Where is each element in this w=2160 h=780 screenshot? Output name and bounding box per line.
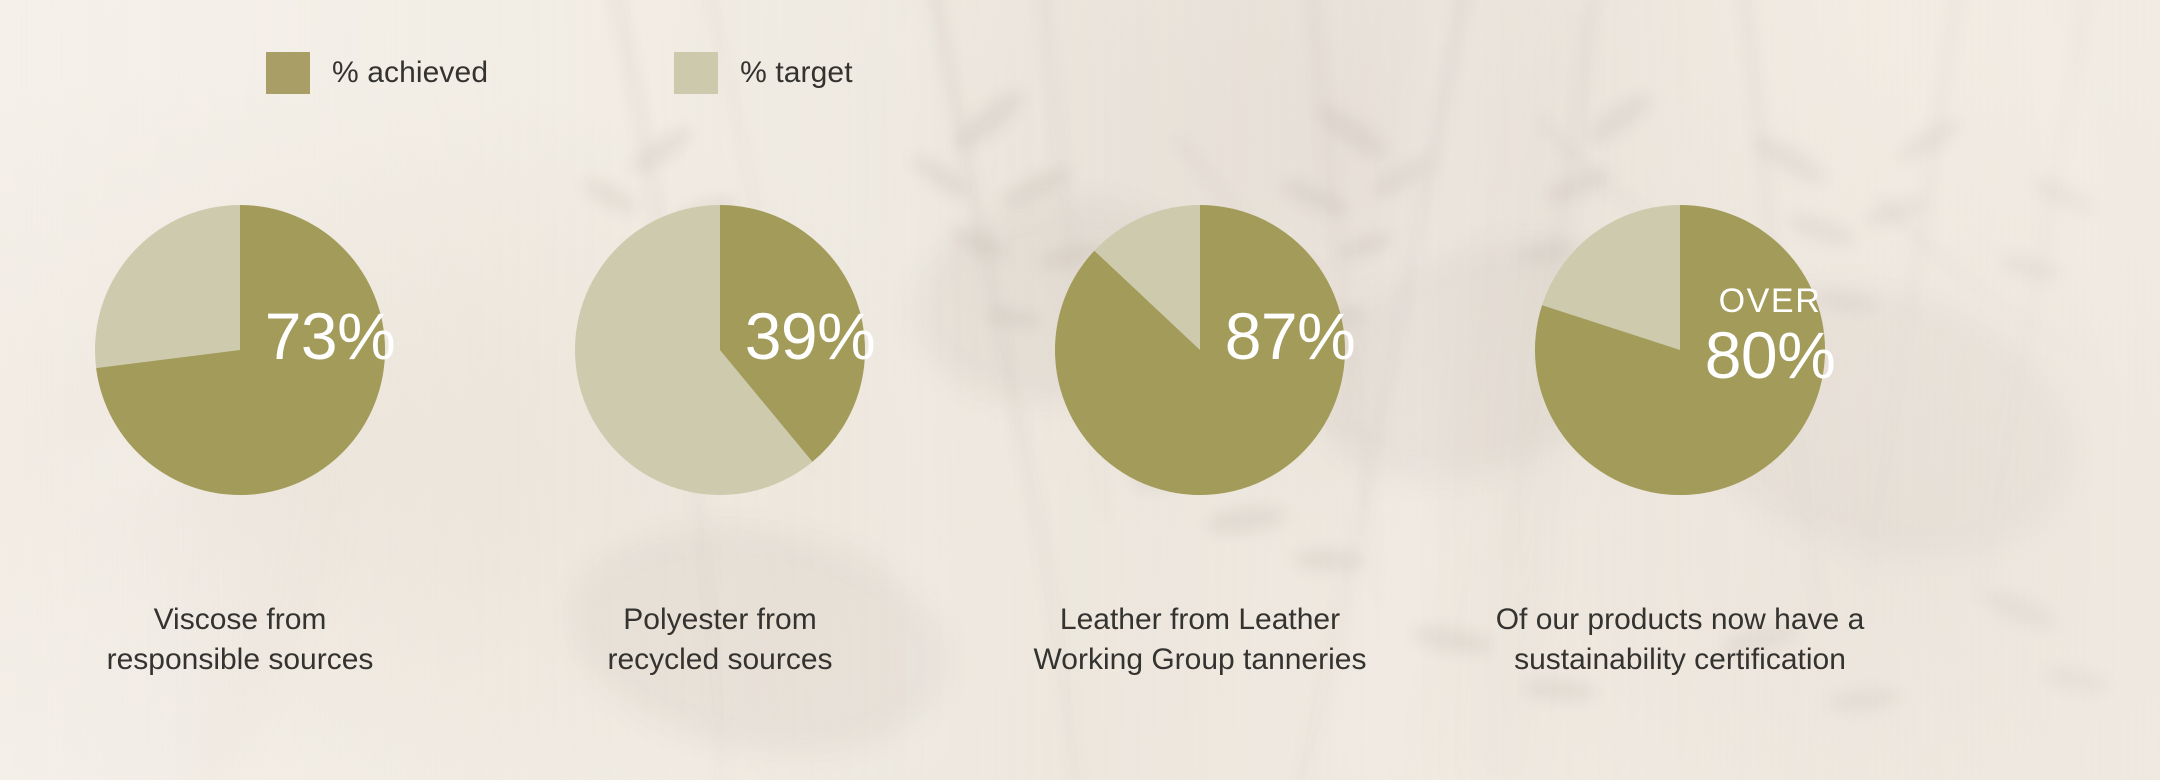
legend-swatch-achieved: [266, 52, 310, 94]
pie-caption-polyester: Polyester from recycled sources: [607, 600, 832, 679]
pie-caption-line-2: responsible sources: [107, 640, 374, 680]
legend-item-target[interactable]: % target: [674, 52, 853, 94]
pie-svg-leather: [1000, 150, 1400, 550]
pie-cell-certification[interactable]: OVER 80% Of our products now have a sust…: [1440, 150, 1920, 679]
infographic-root: % achieved % target 73% Viscose f: [0, 0, 2160, 780]
pie-caption-certification: Of our products now have a sustainabilit…: [1496, 600, 1865, 679]
pie-caption-line-1: Polyester from: [607, 600, 832, 640]
pie-caption-line-1: Leather from Leather: [1034, 600, 1367, 640]
pie-caption-line-2: sustainability certification: [1496, 640, 1865, 680]
pie-caption-line-2: Working Group tanneries: [1034, 640, 1367, 680]
legend-swatch-target: [674, 52, 718, 94]
pie-caption-viscose: Viscose from responsible sources: [107, 600, 374, 679]
pie-caption-line-2: recycled sources: [607, 640, 832, 680]
pie-svg-polyester: [520, 150, 920, 550]
legend-label-target: % target: [740, 58, 853, 88]
legend-label-achieved: % achieved: [332, 58, 488, 88]
pie-cell-polyester[interactable]: 39% Polyester from recycled sources: [480, 150, 960, 679]
pie-chart-viscose[interactable]: 73%: [40, 150, 440, 550]
pie-chart-row: 73% Viscose from responsible sources 39%: [0, 150, 2160, 679]
pie-caption-leather: Leather from Leather Working Group tanne…: [1034, 600, 1367, 679]
pie-cell-viscose[interactable]: 73% Viscose from responsible sources: [0, 150, 480, 679]
pie-svg-certification: [1480, 150, 1880, 550]
pie-svg-viscose: [40, 150, 440, 550]
chart-legend: % achieved % target: [266, 52, 853, 94]
pie-caption-line-1: Viscose from: [107, 600, 374, 640]
pie-chart-certification[interactable]: OVER 80%: [1480, 150, 1880, 550]
pie-chart-polyester[interactable]: 39%: [520, 150, 920, 550]
pie-chart-leather[interactable]: 87%: [1000, 150, 1400, 550]
pie-caption-line-1: Of our products now have a: [1496, 600, 1865, 640]
pie-cell-leather[interactable]: 87% Leather from Leather Working Group t…: [960, 150, 1440, 679]
legend-item-achieved[interactable]: % achieved: [266, 52, 488, 94]
